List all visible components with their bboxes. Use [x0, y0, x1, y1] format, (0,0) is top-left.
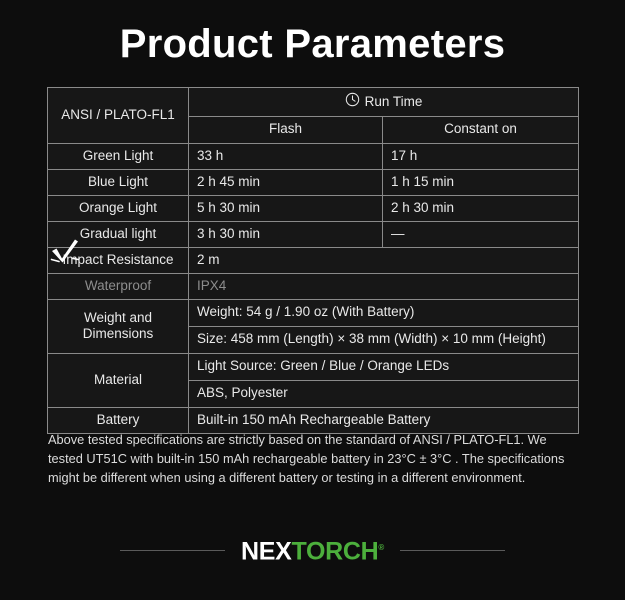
- cell-size-value: Size: 458 mm (Length) × 38 mm (Width) × …: [189, 326, 579, 353]
- weight-label-line1: Weight and: [84, 310, 152, 325]
- header-runtime-label: Run Time: [365, 94, 423, 111]
- cell-orange-light-flash: 5 h 30 min: [189, 195, 383, 221]
- table-row: Waterproof IPX4: [48, 273, 579, 299]
- row-label-green-light: Green Light: [48, 143, 189, 169]
- table-header-row-group: ANSI / PLATO-FL1 Run Time: [48, 88, 579, 117]
- cell-impact-resistance-value: 2 m: [189, 247, 579, 273]
- logo-text-torch: TORCH: [291, 538, 378, 566]
- footer-rule-left: [120, 550, 225, 551]
- row-label-orange-light: Orange Light: [48, 195, 189, 221]
- table-row: Green Light 33 h 17 h: [48, 143, 579, 169]
- logo-text-nex: NEX: [241, 538, 292, 566]
- cell-material-light-source: Light Source: Green / Blue / Orange LEDs: [189, 353, 579, 380]
- header-col-constant-on: Constant on: [383, 116, 579, 143]
- table-row: Impact Resistance 2 m: [48, 247, 579, 273]
- weight-label-line2: Dimensions: [83, 326, 154, 341]
- header-standard-label: ANSI / PLATO-FL1: [48, 88, 189, 144]
- trademark-symbol: ®: [378, 543, 384, 552]
- table-row: Blue Light 2 h 45 min 1 h 15 min: [48, 169, 579, 195]
- table-row: Material Light Source: Green / Blue / Or…: [48, 353, 579, 380]
- header-col-flash: Flash: [189, 116, 383, 143]
- cell-waterproof-value: IPX4: [189, 273, 579, 299]
- row-label-blue-light: Blue Light: [48, 169, 189, 195]
- table-row: Weight and Dimensions Weight: 54 g / 1.9…: [48, 299, 579, 326]
- row-label-waterproof: Waterproof: [48, 273, 189, 299]
- cell-gradual-light-flash: 3 h 30 min: [189, 221, 383, 247]
- cell-weight-value: Weight: 54 g / 1.90 oz (With Battery): [189, 299, 579, 326]
- row-label-material: Material: [48, 353, 189, 407]
- cell-blue-light-constant: 1 h 15 min: [383, 169, 579, 195]
- footnote-text: Above tested specifications are strictly…: [48, 430, 582, 487]
- product-parameters-page: Product Parameters ANSI / PLATO-FL1: [0, 0, 625, 600]
- table-row: Gradual light 3 h 30 min —: [48, 221, 579, 247]
- footer: NEXTORCH®: [0, 533, 625, 567]
- cell-green-light-flash: 33 h: [189, 143, 383, 169]
- table-row: Orange Light 5 h 30 min 2 h 30 min: [48, 195, 579, 221]
- row-label-impact-resistance: Impact Resistance: [48, 247, 189, 273]
- footer-rule-right: [400, 550, 505, 551]
- header-runtime-group: Run Time: [189, 88, 579, 117]
- cell-green-light-constant: 17 h: [383, 143, 579, 169]
- cell-material-composition: ABS, Polyester: [189, 380, 579, 407]
- product-specs-table: ANSI / PLATO-FL1 Run Time: [47, 87, 579, 434]
- row-label-weight-and-dimensions: Weight and Dimensions: [48, 299, 189, 353]
- page-title: Product Parameters: [0, 20, 625, 68]
- cell-orange-light-constant: 2 h 30 min: [383, 195, 579, 221]
- nextorch-logo: NEXTORCH®: [241, 533, 384, 566]
- cell-gradual-light-constant: —: [383, 221, 579, 247]
- row-label-gradual-light: Gradual light: [48, 221, 189, 247]
- cell-blue-light-flash: 2 h 45 min: [189, 169, 383, 195]
- clock-icon: [345, 92, 360, 112]
